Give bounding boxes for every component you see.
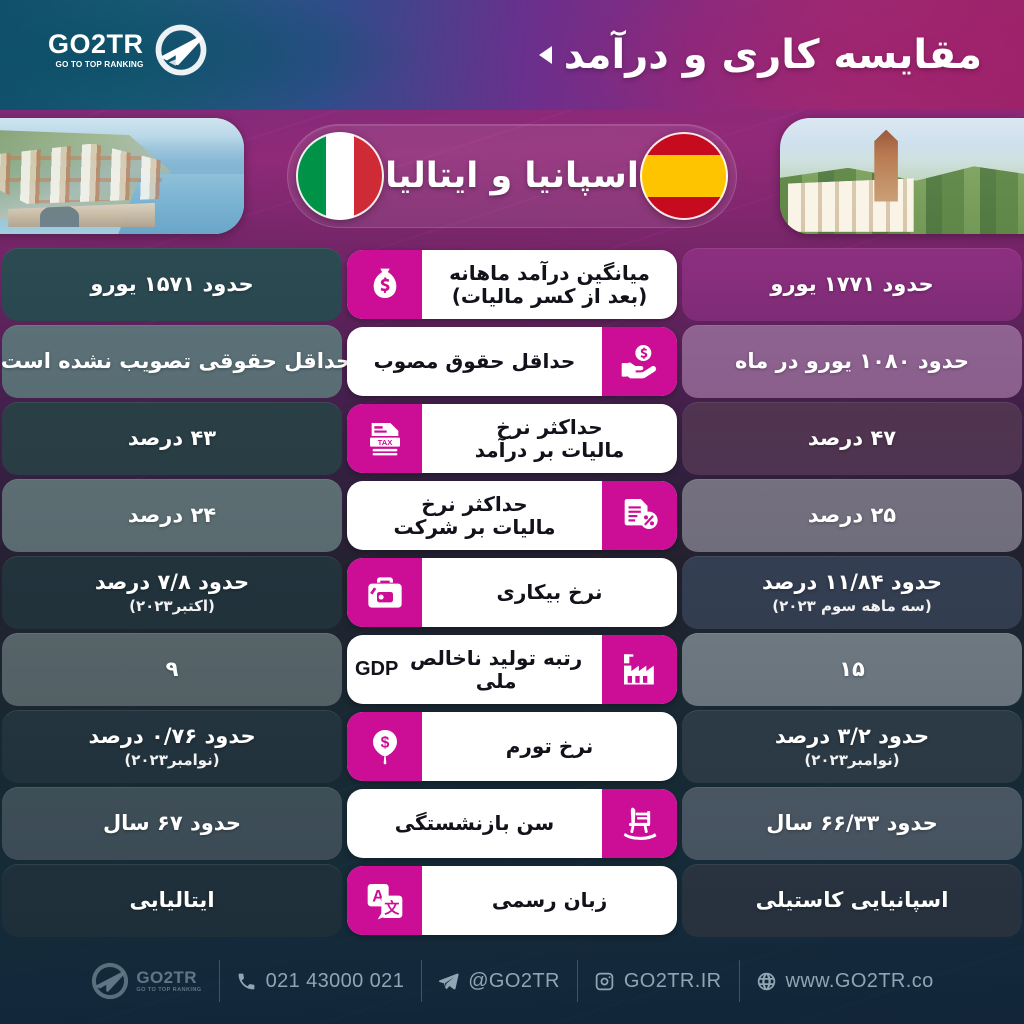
go2tr-logo-icon	[90, 961, 130, 1001]
amalfi-coast-photo	[0, 118, 244, 234]
left-value-main: حدود ۱۵۷۱ یورو	[90, 272, 253, 296]
left-value-cell: حدود ۶۷ سال	[2, 787, 342, 860]
comparison-row: ۴۷ درصد۴۳ درصدTAXحداکثر نرخمالیات بر درآ…	[0, 402, 1024, 475]
left-value-main: حدود ۰/۷۶ درصد	[88, 724, 255, 748]
right-value-sub: (سه ماهه سوم ۲۰۲۳)	[772, 597, 931, 615]
right-value-main: حدود ۱۷۷۱ یورو	[770, 272, 933, 296]
metric-pill[interactable]: TAXحداکثر نرخمالیات بر درآمد	[347, 404, 677, 473]
footer-website[interactable]: www.GO2TR.co	[739, 970, 951, 993]
hand-with-coin-icon	[602, 327, 677, 396]
factory-icon	[602, 635, 677, 704]
left-value-main: ایتالیایی	[130, 888, 215, 912]
country-title-text: اسپانیا و ایتالیا	[384, 156, 640, 196]
cathedral-tower-shape	[874, 130, 898, 202]
briefcase-icon	[347, 558, 422, 627]
svg-text:文: 文	[384, 899, 400, 917]
page-title-text: مقایسه کاری و درآمد	[564, 32, 982, 78]
metric-label: زبان رسمی	[422, 866, 677, 935]
metric-label: حداکثر نرخمالیات بر شرکت	[347, 481, 602, 550]
left-value-main: حداقل حقوقی تصویب نشده است.	[0, 349, 351, 373]
right-value-cell: حدود ۶۶/۳۳ سال	[682, 787, 1022, 860]
right-value-main: ۲۵ درصد	[808, 503, 896, 527]
right-value-main: حدود ۱۰۸۰ یورو در ماه	[735, 349, 969, 373]
comparison-row: ۱۵۹رتبه تولید ناخالص ملیGDP	[0, 633, 1024, 706]
left-value-cell: ۲۴ درصد	[2, 479, 342, 552]
footer-instagram[interactable]: GO2TR.IR	[577, 970, 739, 993]
instagram-icon	[594, 971, 615, 992]
telegram-icon	[438, 971, 459, 992]
metric-label: حداکثر نرخمالیات بر درآمد	[422, 404, 677, 473]
left-value-main: ۴۳ درصد	[128, 426, 216, 450]
left-value-main: ۹	[166, 657, 179, 681]
metric-pill[interactable]: نرخ بیکاری	[347, 558, 677, 627]
left-value-cell: ۴۳ درصد	[2, 402, 342, 475]
right-value-cell: حدود ۱۱/۸۴ درصد(سه ماهه سوم ۲۰۲۳)	[682, 556, 1022, 629]
comparison-rows: حدود ۱۷۷۱ یوروحدود ۱۵۷۱ یورومیانگین درآم…	[0, 248, 1024, 941]
left-value-cell: حدود ۰/۷۶ درصد(نوامبر۲۰۲۳)	[2, 710, 342, 783]
left-value-cell: حدود ۱۵۷۱ یورو	[2, 248, 342, 321]
metric-pill[interactable]: $نرخ تورم	[347, 712, 677, 781]
footer-logo-name: GO2TR	[136, 969, 201, 986]
metric-pill[interactable]: حداکثر نرخمالیات بر شرکت	[347, 481, 677, 550]
left-value-cell: ۹	[2, 633, 342, 706]
right-value-cell: حدود ۱۷۷۱ یورو	[682, 248, 1022, 321]
right-value-main: حدود ۳/۲ درصد	[775, 724, 929, 748]
footer-phone-text: 021 43000 021	[266, 970, 405, 993]
metric-label: سن بازنشستگی	[347, 789, 602, 858]
metric-pill[interactable]: میانگین درآمد ماهانه(بعد از کسر مالیات)	[347, 250, 677, 319]
infographic-canvas: GO2TR GO TO TOP RANKING مقایسه کاری و در…	[0, 0, 1024, 1024]
metric-label: نرخ بیکاری	[422, 558, 677, 627]
right-value-main: اسپانیایی کاستیلی	[756, 888, 949, 912]
page-title: مقایسه کاری و درآمد	[539, 32, 982, 78]
metric-label: حداقل حقوق مصوب	[347, 327, 602, 396]
metric-pill[interactable]: سن بازنشستگی	[347, 789, 677, 858]
left-value-main: ۲۴ درصد	[128, 503, 216, 527]
title-bullet-icon	[539, 46, 552, 64]
left-value-cell: ایتالیایی	[2, 864, 342, 937]
metric-pill[interactable]: رتبه تولید ناخالص ملیGDP	[347, 635, 677, 704]
logo-name-text: GO2TR	[48, 31, 144, 58]
left-value-sub: (اکتبر۲۰۲۳)	[129, 597, 215, 615]
right-value-main: ۱۵	[839, 657, 865, 681]
comparison-row: حدود ۱۱/۸۴ درصد(سه ماهه سوم ۲۰۲۳)حدود ۷/…	[0, 556, 1024, 629]
right-value-cell: حدود ۳/۲ درصد(نوامبر۲۰۲۳)	[682, 710, 1022, 783]
footer-phone[interactable]: 021 43000 021	[219, 970, 422, 993]
left-value-main: حدود ۶۷ سال	[103, 811, 241, 835]
right-value-cell: ۴۷ درصد	[682, 402, 1022, 475]
metric-pill[interactable]: حداقل حقوق مصوب	[347, 327, 677, 396]
italy-flag-icon	[296, 132, 384, 220]
comparison-row: حدود ۶۶/۳۳ سالحدود ۶۷ سالسن بازنشستگی	[0, 787, 1024, 860]
brand-logo[interactable]: GO2TR GO TO TOP RANKING	[48, 22, 209, 78]
footer-telegram-text: @GO2TR	[468, 970, 560, 993]
comparison-row: ۲۵ درصد۲۴ درصدحداکثر نرخمالیات بر شرکت	[0, 479, 1024, 552]
left-value-cell: حداقل حقوقی تصویب نشده است.	[2, 325, 342, 398]
footer-logo-tagline: GO TO TOP RANKING	[136, 988, 201, 994]
seville-cityscape-photo	[780, 118, 1024, 234]
rocking-chair-icon	[602, 789, 677, 858]
footer-telegram[interactable]: @GO2TR	[421, 970, 577, 993]
spain-flag-icon	[640, 132, 728, 220]
country-title-pill: اسپانیا و ایتالیا	[287, 124, 737, 228]
right-value-main: حدود ۱۱/۸۴ درصد	[762, 570, 942, 594]
right-value-main: حدود ۶۶/۳۳ سال	[766, 811, 937, 835]
phone-icon	[236, 971, 257, 992]
right-value-cell: حدود ۱۰۸۰ یورو در ماه	[682, 325, 1022, 398]
left-value-main: حدود ۷/۸ درصد	[95, 570, 249, 594]
comparison-row: حدود ۱۰۸۰ یورو در ماهحداقل حقوقی تصویب ن…	[0, 325, 1024, 398]
right-value-cell: ۱۵	[682, 633, 1022, 706]
tax-document-icon: TAX	[347, 404, 422, 473]
left-value-sub: (نوامبر۲۰۲۳)	[124, 751, 219, 769]
comparison-row: اسپانیایی کاستیلیایتالیاییA文زبان رسمی	[0, 864, 1024, 937]
translate-icon: A文	[347, 866, 422, 935]
right-value-sub: (نوامبر۲۰۲۳)	[804, 751, 899, 769]
globe-icon	[756, 971, 777, 992]
go2tr-logo-icon	[153, 22, 209, 78]
right-value-cell: اسپانیایی کاستیلی	[682, 864, 1022, 937]
inflation-balloon-icon: $	[347, 712, 422, 781]
metric-pill[interactable]: A文زبان رسمی	[347, 866, 677, 935]
header-bar: GO2TR GO TO TOP RANKING مقایسه کاری و در…	[0, 0, 1024, 110]
right-value-main: ۴۷ درصد	[808, 426, 896, 450]
footer-bar: GO2TR GO TO TOP RANKING 021 43000 021 @G…	[0, 938, 1024, 1024]
corporate-tax-icon	[602, 481, 677, 550]
right-value-cell: ۲۵ درصد	[682, 479, 1022, 552]
logo-tagline-text: GO TO TOP RANKING	[55, 61, 143, 69]
footer-instagram-text: GO2TR.IR	[624, 970, 722, 993]
comparison-row: حدود ۱۷۷۱ یوروحدود ۱۵۷۱ یورومیانگین درآم…	[0, 248, 1024, 321]
footer-website-text: www.GO2TR.co	[786, 970, 934, 993]
metric-label: میانگین درآمد ماهانه(بعد از کسر مالیات)	[422, 250, 677, 319]
left-value-cell: حدود ۷/۸ درصد(اکتبر۲۰۲۳)	[2, 556, 342, 629]
comparison-row: حدود ۳/۲ درصد(نوامبر۲۰۲۳)حدود ۰/۷۶ درصد(…	[0, 710, 1024, 783]
footer-logo: GO2TR GO TO TOP RANKING	[73, 961, 218, 1001]
money-bag-icon	[347, 250, 422, 319]
metric-label: نرخ تورم	[422, 712, 677, 781]
metric-label: رتبه تولید ناخالص ملیGDP	[347, 635, 602, 704]
country-bar: اسپانیا و ایتالیا	[0, 110, 1024, 242]
svg-text:TAX: TAX	[377, 437, 393, 446]
svg-text:$: $	[380, 734, 389, 751]
